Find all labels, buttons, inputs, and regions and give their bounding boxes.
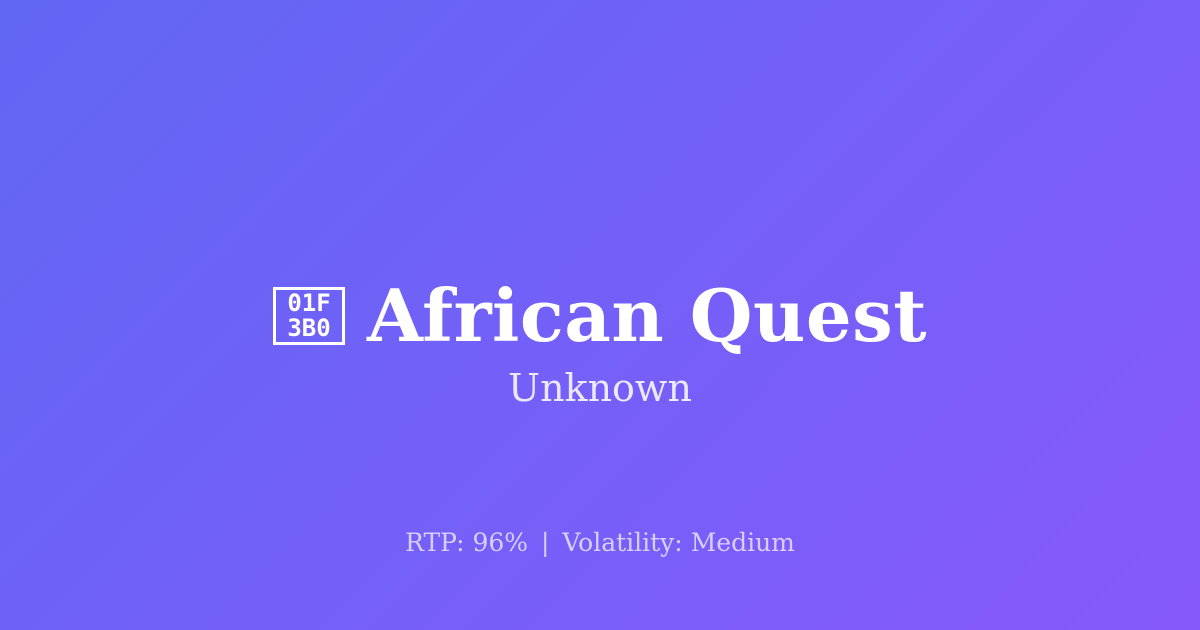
slot-machine-icon: 01F 3B0: [273, 287, 345, 345]
volatility-label: Volatility:: [562, 528, 682, 557]
provider-label: Unknown: [0, 365, 1200, 413]
rtp-label: RTP:: [405, 528, 464, 557]
game-preview-card: 01F 3B0 African Quest Unknown RTP: 96% |…: [0, 0, 1200, 630]
volatility-value: Medium: [691, 528, 795, 557]
page-title: African Quest: [367, 280, 927, 352]
game-stats: RTP: 96% | Volatility: Medium: [0, 527, 1200, 560]
stats-separator: |: [536, 528, 554, 557]
rtp-value: 96%: [472, 528, 528, 557]
slot-machine-icon-codepoint-low: 3B0: [287, 316, 330, 341]
slot-machine-icon-codepoint-high: 01F: [287, 291, 330, 316]
